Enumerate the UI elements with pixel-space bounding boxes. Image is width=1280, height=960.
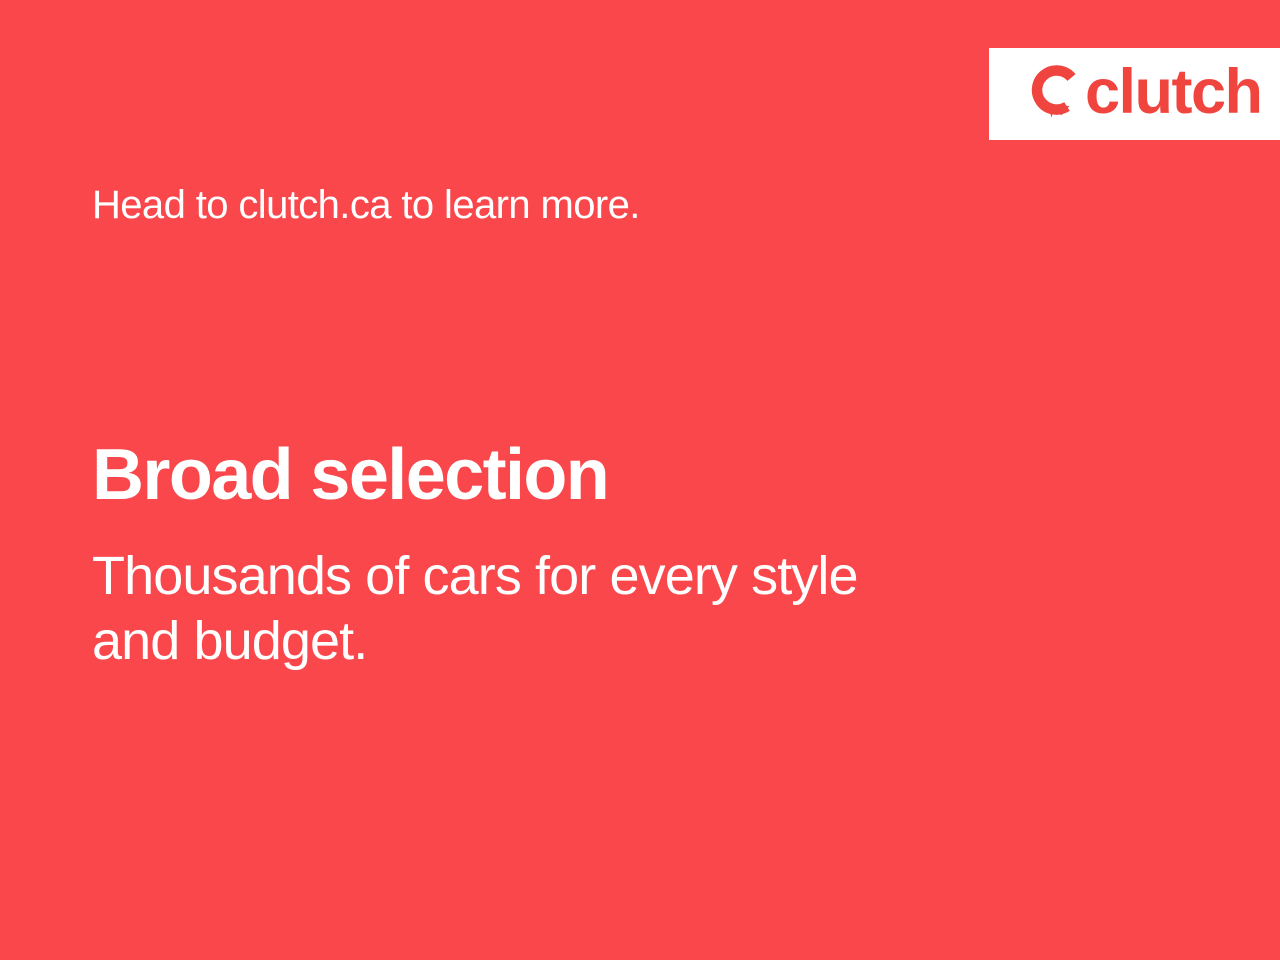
- subheadline-block: Thousands of cars for every style and bu…: [92, 544, 858, 674]
- subheadline-line-1: Thousands of cars for every style: [92, 544, 858, 609]
- clutch-c-mark-icon: [1028, 65, 1082, 123]
- clutch-wordmark: clutch: [1085, 61, 1262, 124]
- eyebrow-text: Head to clutch.ca to learn more.: [92, 182, 640, 228]
- brand-logo-plate: clutch: [989, 48, 1280, 140]
- subheadline-line-2: and budget.: [92, 609, 858, 674]
- clutch-logo-lockup: clutch: [1028, 63, 1262, 126]
- slide-canvas: clutch Head to clutch.ca to learn more. …: [0, 0, 1280, 960]
- headline-text: Broad selection: [92, 438, 608, 514]
